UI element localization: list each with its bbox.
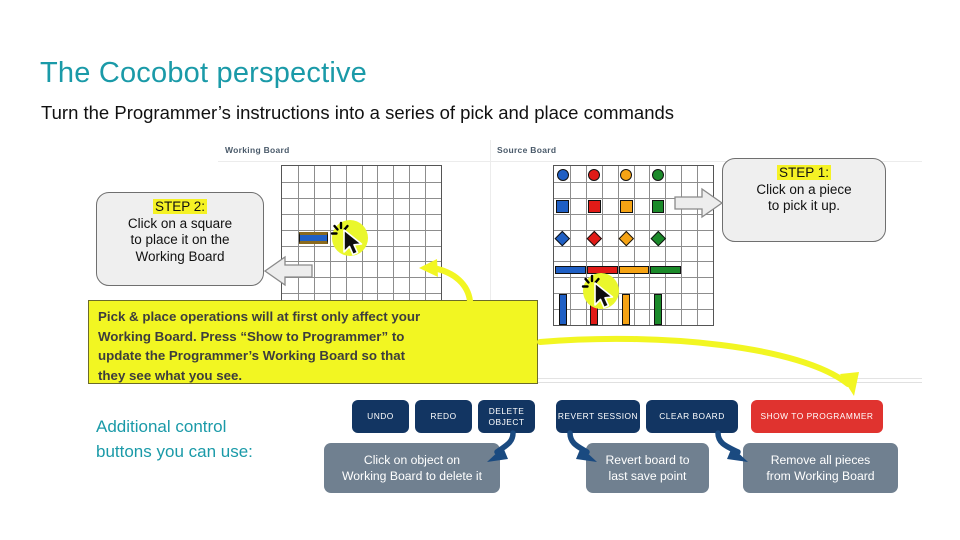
board-piece-v-bar-orange[interactable] (622, 294, 630, 325)
tooltip-revert-line-2: last save point (605, 468, 689, 484)
page-title: The Cocobot perspective (40, 57, 640, 90)
tooltip-delete-line-1: Click on object on (342, 452, 482, 468)
working-board-click-cursor[interactable] (328, 216, 372, 260)
board-piece-square-red[interactable] (588, 200, 601, 213)
step2-line-2: to place it on the (97, 232, 263, 249)
grid-line (282, 277, 441, 278)
section-divider (538, 382, 922, 383)
revert-session-button[interactable]: REVERT SESSION (556, 400, 640, 433)
tooltip-clear-line-1: Remove all pieces (766, 452, 874, 468)
tooltip-revert-line-1: Revert board to (605, 452, 689, 468)
board-piece-diamond-blue[interactable] (555, 231, 570, 246)
additional-controls-label: Additional control buttons you can use: (96, 414, 326, 464)
board-piece-v-bar-blue[interactable] (559, 294, 567, 325)
working-board-header: Working Board (225, 145, 290, 155)
info-note: Pick & place operations will at first on… (88, 300, 538, 384)
additional-controls-label-line-1: Additional control (96, 414, 326, 439)
tooltip-clear-board: Remove all pieces from Working Board (743, 443, 898, 493)
delete-object-button[interactable]: DELETE OBJECT (478, 400, 535, 433)
additional-controls-label-line-2: buttons you can use: (96, 439, 326, 464)
callout-step-1: STEP 1: Click on a piece to pick it up. (722, 158, 886, 242)
board-piece-diamond-orange[interactable] (619, 231, 634, 246)
show-to-programmer-button[interactable]: SHOW TO PROGRAMMER (751, 400, 883, 433)
step1-badge: STEP 1: (777, 165, 831, 180)
board-piece-v-bar-green[interactable] (654, 294, 662, 325)
slide-canvas: The Cocobot perspective Turn the Program… (0, 0, 960, 540)
tooltip-delete-object: Click on object on Working Board to dele… (324, 443, 500, 493)
note-line-3: update the Programmer’s Working Board so… (98, 346, 528, 366)
source-board-header: Source Board (497, 145, 556, 155)
grid-line (649, 166, 650, 325)
undo-button[interactable]: UNDO (352, 400, 409, 433)
board-piece-h-bar-orange[interactable] (619, 266, 650, 274)
grid-line (282, 261, 441, 262)
grid-line (282, 293, 441, 294)
board-piece-circle-red[interactable] (588, 169, 600, 181)
grid-line (697, 166, 698, 325)
grid-line (665, 166, 666, 325)
tooltip-revert-session: Revert board to last save point (586, 443, 709, 493)
step1-line-1: Click on a piece (723, 182, 885, 199)
step2-line-1: Click on a square (97, 216, 263, 233)
panel-divider (218, 161, 490, 162)
grid-line (554, 309, 713, 310)
board-piece-diamond-green[interactable] (651, 231, 666, 246)
board-piece-circle-blue[interactable] (557, 169, 569, 181)
note-line-4: they see what you see. (98, 366, 528, 386)
grid-line (554, 246, 713, 247)
grid-line (554, 277, 713, 278)
step2-badge: STEP 2: (153, 199, 207, 214)
step2-line-3: Working Board (97, 249, 263, 266)
callout-step-2: STEP 2: Click on a square to place it on… (96, 192, 264, 286)
grid-line (554, 261, 713, 262)
source-board-click-cursor[interactable] (579, 269, 623, 313)
board-piece-square-orange[interactable] (620, 200, 633, 213)
note-line-2: Working Board. Press “Show to Programmer… (98, 327, 528, 347)
board-piece-square-green[interactable] (652, 200, 665, 213)
board-piece-square-blue[interactable] (556, 200, 569, 213)
board-piece-circle-orange[interactable] (620, 169, 632, 181)
board-piece-diamond-red[interactable] (587, 231, 602, 246)
redo-button[interactable]: REDO (415, 400, 472, 433)
page-subtitle: Turn the Programmer’s instructions into … (41, 102, 921, 124)
tooltip-clear-line-2: from Working Board (766, 468, 874, 484)
step1-line-2: to pick it up. (723, 198, 885, 215)
board-piece-h-bar-green[interactable] (650, 266, 681, 274)
source-board-grid[interactable] (553, 165, 714, 326)
tooltip-delete-line-2: Working Board to delete it (342, 468, 482, 484)
note-line-1: Pick & place operations will at first on… (98, 307, 528, 327)
board-piece-circle-green[interactable] (652, 169, 664, 181)
grid-line (681, 166, 682, 325)
board-piece-h-bar-blue[interactable] (299, 232, 328, 244)
clear-board-button[interactable]: CLEAR BOARD (646, 400, 738, 433)
grid-line (554, 293, 713, 294)
